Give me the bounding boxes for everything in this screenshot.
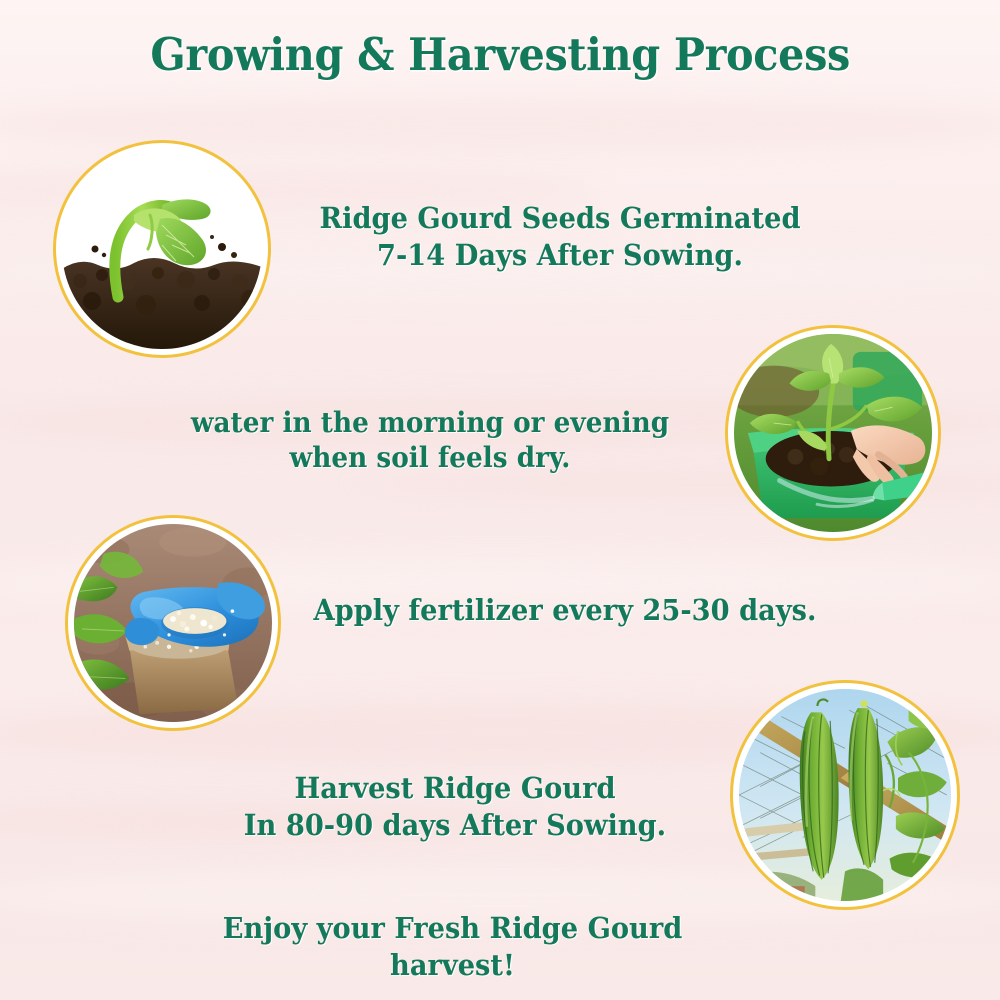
- step-4-photo-circle: [730, 680, 960, 910]
- step-3-text: Apply fertilizer every 25-30 days.: [297, 592, 833, 629]
- watering-illustration: [734, 334, 932, 532]
- poster-title-area: Growing & Harvesting Process: [0, 30, 1000, 80]
- step-1-photo-circle: [53, 140, 271, 358]
- step-2-text: water in the morning or evening when soi…: [167, 405, 693, 476]
- closing-text: Enjoy your Fresh Ridge Gourd harvest!: [196, 910, 708, 983]
- fertilizer-illustration: [74, 524, 272, 722]
- page-title: Growing & Harvesting Process: [150, 30, 850, 80]
- seedling-sprouting-in-soil-photo: [62, 149, 262, 349]
- gloved-hand-with-fertilizer-granules-photo: [74, 524, 272, 722]
- step-1-text: Ridge Gourd Seeds Germinated 7-14 Days A…: [297, 200, 823, 273]
- step-4-text: Harvest Ridge Gourd In 80-90 days After …: [215, 770, 694, 843]
- step-2-photo-circle: [725, 325, 941, 541]
- step-3-photo-circle: [65, 515, 281, 731]
- seedling-illustration: [62, 149, 262, 349]
- hand-watering-plant-in-grow-bag-photo: [734, 334, 932, 532]
- ridge-gourds-hanging-on-trellis-photo: [739, 689, 951, 901]
- infographic-poster: Growing & Harvesting Process: [0, 0, 1000, 1000]
- ridge-gourd-harvest-illustration: [739, 689, 951, 901]
